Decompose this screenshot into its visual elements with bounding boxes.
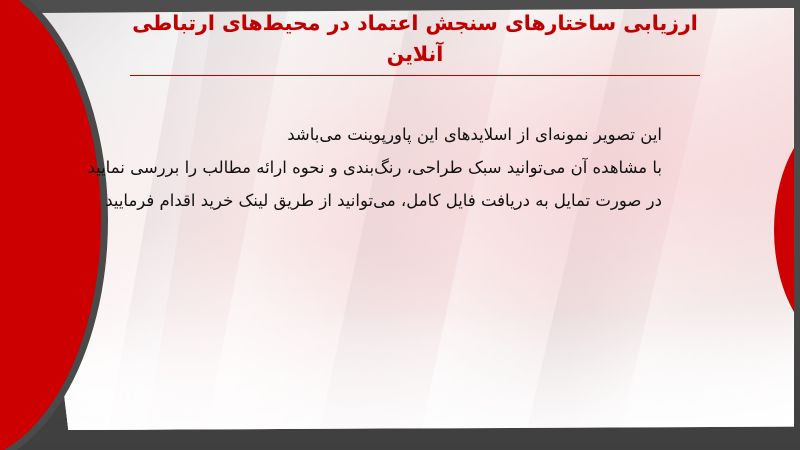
red-ellipse-right-icon <box>774 106 794 354</box>
slide-title-line-2: آنلاین <box>120 39 710 70</box>
slide-content-panel <box>12 8 794 430</box>
slide-title: ارزیابی ساختارهای سنجش اعتماد در محیط‌ها… <box>120 8 710 70</box>
background-bottom-sheen <box>12 310 794 430</box>
background-color-wash <box>12 8 794 430</box>
body-text-line-3: در صورت تمایل به دریافت فایل کامل، می‌تو… <box>142 184 662 217</box>
background-swoosh-band-7 <box>595 8 794 430</box>
presentation-slide: ارزیابی ساختارهای سنجش اعتماد در محیط‌ها… <box>0 0 800 450</box>
background-swoosh-band-2 <box>87 8 322 430</box>
background-swoosh-band-3 <box>184 8 455 430</box>
background-swoosh-band-6 <box>500 8 749 430</box>
slide-body-text: این تصویر نمونه‌ای از اسلایدهای این پاور… <box>142 118 662 217</box>
background-swoosh-band-5 <box>397 8 665 430</box>
slide-title-line-1: ارزیابی ساختارهای سنجش اعتماد در محیط‌ها… <box>120 8 710 39</box>
body-text-line-2: با مشاهده آن می‌توانید سبک طراحی، رنگ‌بن… <box>142 151 662 184</box>
title-divider-rule <box>130 75 700 76</box>
background-swoosh-band-4 <box>295 8 543 430</box>
body-text-line-1: این تصویر نمونه‌ای از اسلایدهای این پاور… <box>142 118 662 151</box>
